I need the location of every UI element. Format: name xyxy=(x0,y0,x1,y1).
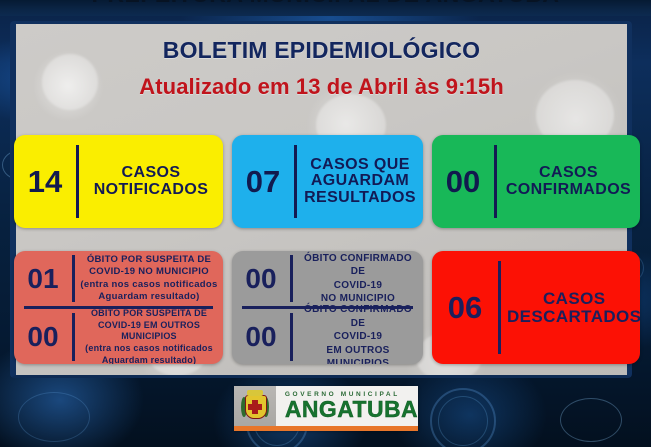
crown-shape xyxy=(247,390,263,396)
label-line: ÓBITO CONFIRMADO DE xyxy=(297,252,419,279)
obito-confirmado-outros-row: 00 ÓBITO CONFIRMADO DE COVID-19 EM OUTRO… xyxy=(232,309,423,364)
label-line: COVID-19 EM OUTROS xyxy=(79,320,219,332)
last-updated-text: Atualizado em 13 de Abril às 9:15h xyxy=(16,74,627,100)
casos-descartados-value: 06 xyxy=(432,292,498,323)
card-casos-descartados: 06 CASOS DESCARTADOS xyxy=(432,251,640,364)
label-line: ÓBITO POR SUSPEITA DE xyxy=(79,254,219,266)
logo-text-container: GOVERNO MUNICIPAL ANGATUBA xyxy=(276,386,418,430)
obito-suspeita-outros-value: 00 xyxy=(14,323,72,351)
page-title: BOLETIM EPIDEMIOLÓGICO xyxy=(16,37,627,64)
label-line: CASOS xyxy=(507,290,640,308)
obito-suspeita-outros-label: ÓBITO POR SUSPEITA DE COVID-19 EM OUTROS… xyxy=(75,308,223,364)
casos-confirmados-value: 00 xyxy=(432,166,494,197)
obito-confirmado-outros-value: 00 xyxy=(232,323,290,351)
label-line: CASOS QUE xyxy=(303,157,417,174)
obito-suspeita-municipio-label: ÓBITO POR SUSPEITA DE COVID-19 NO MUNICI… xyxy=(75,254,223,303)
label-line: CASOS xyxy=(85,165,217,182)
epidemiological-bulletin-poster: PREFEITURA MUNICIPAL DE ANGATUBA BOLETIM… xyxy=(0,0,651,447)
label-line: Aguardam resultado) xyxy=(79,291,219,303)
label-line: ÓBITO CONFIRMADO DE xyxy=(297,303,419,330)
banner-headline-cropped: PREFEITURA MUNICIPAL DE ANGATUBA xyxy=(0,0,651,8)
label-line: AGUARDAM xyxy=(303,173,417,190)
label-line: CONFIRMADOS xyxy=(503,182,634,199)
label-line: COVID-19 xyxy=(297,279,419,293)
casos-aguardam-value: 07 xyxy=(232,166,294,197)
label-line: COVID-19 xyxy=(297,330,419,344)
logo-orange-stripe xyxy=(234,426,418,431)
obito-suspeita-municipio-row: 01 ÓBITO POR SUSPEITA DE COVID-19 NO MUN… xyxy=(14,251,223,306)
card-obito-confirmado: 00 ÓBITO CONFIRMADO DE COVID-19 NO MUNIC… xyxy=(232,251,423,364)
casos-notificados-label: CASOS NOTIFICADOS xyxy=(79,165,223,198)
label-line: MUNICIPIOS xyxy=(79,331,219,343)
municipal-government-logo: GOVERNO MUNICIPAL ANGATUBA xyxy=(234,386,418,430)
crest-container xyxy=(234,386,276,430)
casos-aguardam-label: CASOS QUE AGUARDAM RESULTADOS xyxy=(297,157,423,207)
obito-confirmado-municipio-row: 00 ÓBITO CONFIRMADO DE COVID-19 NO MUNIC… xyxy=(232,251,423,306)
obito-confirmado-municipio-value: 00 xyxy=(232,265,290,293)
card-casos-notificados: 14 CASOS NOTIFICADOS xyxy=(14,135,223,228)
card-casos-confirmados: 00 CASOS CONFIRMADOS xyxy=(432,135,640,228)
casos-notificados-value: 14 xyxy=(14,166,76,197)
label-line: Aguardam resultado) xyxy=(79,355,219,364)
city-name-label: ANGATUBA xyxy=(285,398,418,420)
coat-of-arms-icon xyxy=(241,390,269,422)
label-line: (entra nos casos notificados xyxy=(79,343,219,355)
obito-confirmado-outros-label: ÓBITO CONFIRMADO DE COVID-19 EM OUTROS M… xyxy=(293,303,423,364)
filament-decoration xyxy=(18,392,90,442)
card-casos-aguardam-resultados: 07 CASOS QUE AGUARDAM RESULTADOS xyxy=(232,135,423,228)
label-line: ÓBITO POR SUSPEITA DE xyxy=(79,308,219,320)
label-line: (entra nos casos notificados xyxy=(79,279,219,291)
obito-confirmado-municipio-label: ÓBITO CONFIRMADO DE COVID-19 NO MUNICIPI… xyxy=(293,252,423,306)
label-line: EM OUTROS MUNICIPIOS xyxy=(297,344,419,364)
filament-decoration xyxy=(560,398,622,442)
obito-suspeita-outros-row: 00 ÓBITO POR SUSPEITA DE COVID-19 EM OUT… xyxy=(14,309,223,364)
label-line: CASOS xyxy=(503,165,634,182)
virus-ring-decoration xyxy=(430,388,496,447)
label-line: RESULTADOS xyxy=(303,190,417,207)
card-obito-suspeita: 01 ÓBITO POR SUSPEITA DE COVID-19 NO MUN… xyxy=(14,251,223,364)
casos-descartados-label: CASOS DESCARTADOS xyxy=(501,290,640,325)
label-line: DESCARTADOS xyxy=(507,308,640,326)
casos-confirmados-label: CASOS CONFIRMADOS xyxy=(497,165,640,198)
top-banner: PREFEITURA MUNICIPAL DE ANGATUBA xyxy=(0,0,651,16)
cross-horizontal xyxy=(248,404,262,410)
label-line: COVID-19 NO MUNICIPIO xyxy=(79,266,219,278)
label-line: NOTIFICADOS xyxy=(85,182,217,199)
obito-suspeita-municipio-value: 01 xyxy=(14,265,72,293)
